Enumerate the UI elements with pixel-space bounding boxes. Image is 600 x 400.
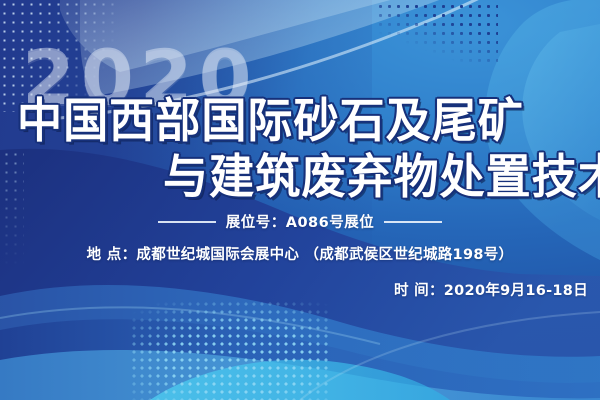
rule-right-icon — [384, 221, 442, 223]
rule-left-icon — [158, 221, 216, 223]
venue-text: 地 点：成都世纪城国际会展中心 （成都武侯区世纪城路198号） — [0, 243, 600, 264]
date-text: 时 间：2020年9月16-18日 — [394, 279, 588, 300]
booth-number-row: 展位号：A086号展位 — [0, 211, 600, 232]
dot-pattern-bottom-icon — [130, 300, 330, 400]
dot-pattern-top-right-icon — [376, 2, 498, 62]
booth-number-text: 展位号：A086号展位 — [226, 211, 375, 232]
dot-pattern-top-left-icon — [0, 0, 120, 112]
exhibition-poster: 2020 中国西部国际砂石及尾矿 与建筑废弃物处置技术 展位号：A086号展位 … — [0, 0, 600, 400]
